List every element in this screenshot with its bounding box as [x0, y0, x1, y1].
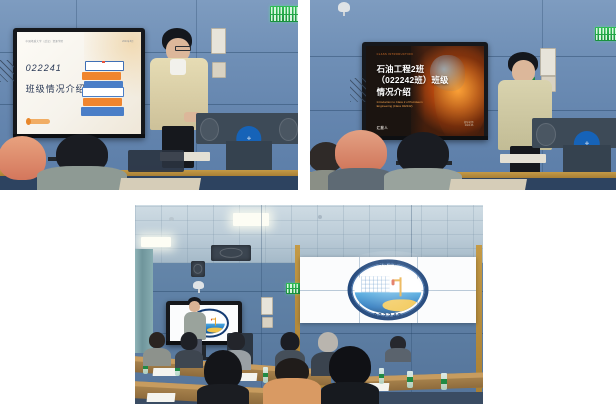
audience [135, 324, 483, 404]
ceiling [135, 205, 483, 263]
chair-back [128, 150, 184, 172]
audience-member [36, 134, 128, 190]
audience-shoulders [321, 382, 379, 404]
audience-shoulders [143, 348, 171, 366]
derrick-head [211, 318, 212, 320]
wall-control-box [261, 297, 273, 315]
wall-cable [350, 78, 366, 102]
audience-shoulders [37, 166, 127, 190]
audience [310, 130, 616, 190]
screen-glow [325, 251, 455, 321]
audience-head [181, 332, 198, 350]
photo-top-right: CLASS INTRODUCTION 石油工程2班（022242班）班级情况介绍… [310, 0, 616, 190]
security-camera [193, 281, 204, 289]
slide-title-number: 022241 [26, 63, 62, 73]
photo-collage: 中国地质大学（武汉）资源学院 2024年6月 022241 班级情况介绍 [0, 0, 616, 404]
photo-top-left: 中国地质大学（武汉）资源学院 2024年6月 022241 班级情况介绍 [0, 0, 298, 190]
presenter-shirt [170, 59, 186, 75]
book [82, 87, 123, 97]
slide-subtitle: Introduction to Class 2 of Petroleum Eng… [377, 100, 436, 109]
display-screen: 中国地质大学（武汉）资源学院 2024年6月 022241 班级情况介绍 [17, 32, 141, 134]
slide-title: 石油工程2班（022242班）班级情况介绍 [377, 64, 450, 98]
desk-surface [119, 178, 201, 190]
interactive-display[interactable]: 中国地质大学（武汉）资源学院 2024年6月 022241 班级情况介绍 [13, 28, 145, 138]
ceiling-smoke-detector [169, 217, 174, 221]
audience-member [143, 332, 171, 366]
interactive-display[interactable]: CLASS INTRODUCTION 石油工程2班（022242班）班级情况介绍… [362, 42, 488, 140]
classroom-scene-left: 中国地质大学（武汉）资源学院 2024年6月 022241 班级情况介绍 [0, 0, 298, 190]
slide-class-title: CLASS INTRODUCTION 石油工程2班（022242班）班级情况介绍… [366, 46, 484, 136]
book [81, 107, 123, 116]
book-stack-illustration [81, 48, 123, 115]
glasses-icon [175, 46, 191, 51]
audience-head [281, 332, 300, 351]
audience [0, 134, 298, 190]
classroom-scene-right: CLASS INTRODUCTION 石油工程2班（022242班）班级情况介绍… [310, 0, 616, 190]
audience-head [227, 332, 245, 350]
audience-member [263, 358, 321, 404]
display-screen: CLASS INTRODUCTION 石油工程2班（022242班）班级情况介绍… [366, 46, 484, 136]
ceiling-sprinkler [318, 215, 322, 219]
slide-header-left: 中国地质大学（武汉）资源学院 [26, 39, 64, 43]
audience-shoulders [197, 384, 249, 404]
presenter-head [189, 301, 200, 312]
slide-footer-right: 指导老师 2024.06 [464, 121, 474, 128]
audience-shoulders [263, 378, 321, 404]
slide-footer-left: 汇报人 [377, 125, 388, 130]
exit-sign [595, 27, 616, 41]
book [83, 98, 122, 106]
slide-books: 中国地质大学（武汉）资源学院 2024年6月 022241 班级情况介绍 [17, 32, 141, 134]
security-camera [338, 2, 350, 12]
book [82, 72, 121, 80]
book [85, 61, 124, 71]
ceiling-tile-grid [135, 205, 483, 263]
audience-member [197, 350, 249, 404]
slide-subtitle-line2: Engineering (Class 022242) [377, 104, 436, 108]
audience-member [385, 336, 411, 362]
slide-title-text: 班级情况介绍 [26, 82, 86, 95]
ceiling-speaker [211, 245, 251, 261]
wall-socket-box [212, 62, 226, 78]
exit-sign [270, 6, 298, 22]
wall-cable [0, 60, 14, 82]
ceiling-light [233, 213, 269, 226]
desk-surface [449, 179, 527, 190]
audience-head [329, 346, 371, 386]
photo-bottom: 石油工程 022242 [135, 205, 483, 404]
wall-speaker [191, 261, 205, 277]
slide-header-right: 2024年6月 [122, 39, 133, 43]
audience-member [321, 346, 379, 404]
wall-control-box [211, 28, 226, 54]
lecture-room-scene: 石油工程 022242 [135, 205, 483, 404]
slide-tag: CLASS INTRODUCTION [377, 53, 413, 56]
audience-shoulders [385, 348, 411, 362]
ceiling-light [141, 237, 171, 247]
slide-footer-line2: 2024.06 [464, 124, 474, 128]
audience-head [149, 332, 165, 348]
